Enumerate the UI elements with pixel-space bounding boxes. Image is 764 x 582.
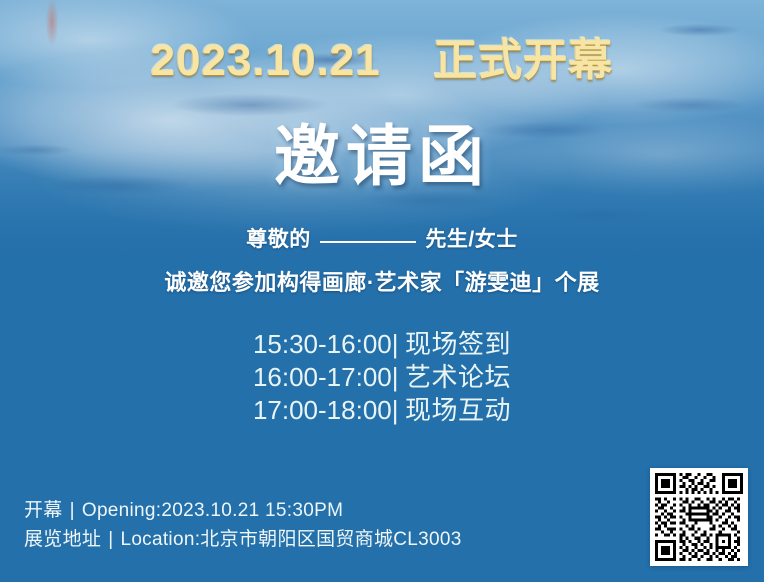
qr-code-icon [655,473,743,561]
schedule-activity: 艺术论坛 [405,362,511,392]
footer-opening-label: 开幕 [24,500,63,521]
schedule-separator: | [392,362,405,392]
qr-code[interactable] [650,468,748,566]
invitation-body-line: 诚邀您参加构得画廊·艺术家「游雯迪」个展 [0,265,764,297]
salutation-line: 尊敬的 先生/女士 [0,223,764,253]
footer-separator: | [101,529,120,550]
footer-separator: | [63,500,82,521]
footer-location-row: 展览地址|Location:北京市朝阳区国贸商城CL3003 [24,525,462,554]
invitation-poster: 2023.10.21 正式开幕 邀请函 尊敬的 先生/女士 诚邀您参加构得画廊·… [0,0,764,582]
headline-text: 正式开幕 [433,36,613,85]
schedule-separator: | [392,395,405,425]
schedule-activity: 现场互动 [405,395,511,425]
salutation-suffix: 先生/女士 [425,228,517,251]
footer-opening-row: 开幕|Opening:2023.10.21 15:30PM [24,496,462,525]
poster-content: 2023.10.21 正式开幕 邀请函 尊敬的 先生/女士 诚邀您参加构得画廊·… [0,0,764,582]
schedule-separator: | [392,329,405,359]
schedule-time: 15:30-16:00 [253,329,392,359]
schedule-activity: 现场签到 [405,329,511,359]
footer-opening-value: Opening:2023.10.21 15:30PM [82,500,343,521]
page-title: 邀请函 [0,103,764,199]
footer-info: 开幕|Opening:2023.10.21 15:30PM 展览地址|Locat… [24,496,462,554]
footer-location-label: 展览地址 [24,529,101,550]
headline-date: 2023.10.21 [151,36,381,85]
schedule-item: 17:00-18:00|现场互动 [0,394,764,427]
schedule-list: 15:30-16:00|现场签到 16:00-17:00|艺术论坛 17:00-… [0,328,764,427]
schedule-time: 17:00-18:00 [253,395,392,425]
schedule-item: 15:30-16:00|现场签到 [0,328,764,361]
salutation-prefix: 尊敬的 [246,228,311,251]
recipient-name-blank [320,241,416,243]
schedule-item: 16:00-17:00|艺术论坛 [0,361,764,394]
schedule-time: 16:00-17:00 [253,362,392,392]
headline: 2023.10.21 正式开幕 [0,24,764,88]
footer-location-value: Location:北京市朝阳区国贸商城CL3003 [120,529,461,550]
